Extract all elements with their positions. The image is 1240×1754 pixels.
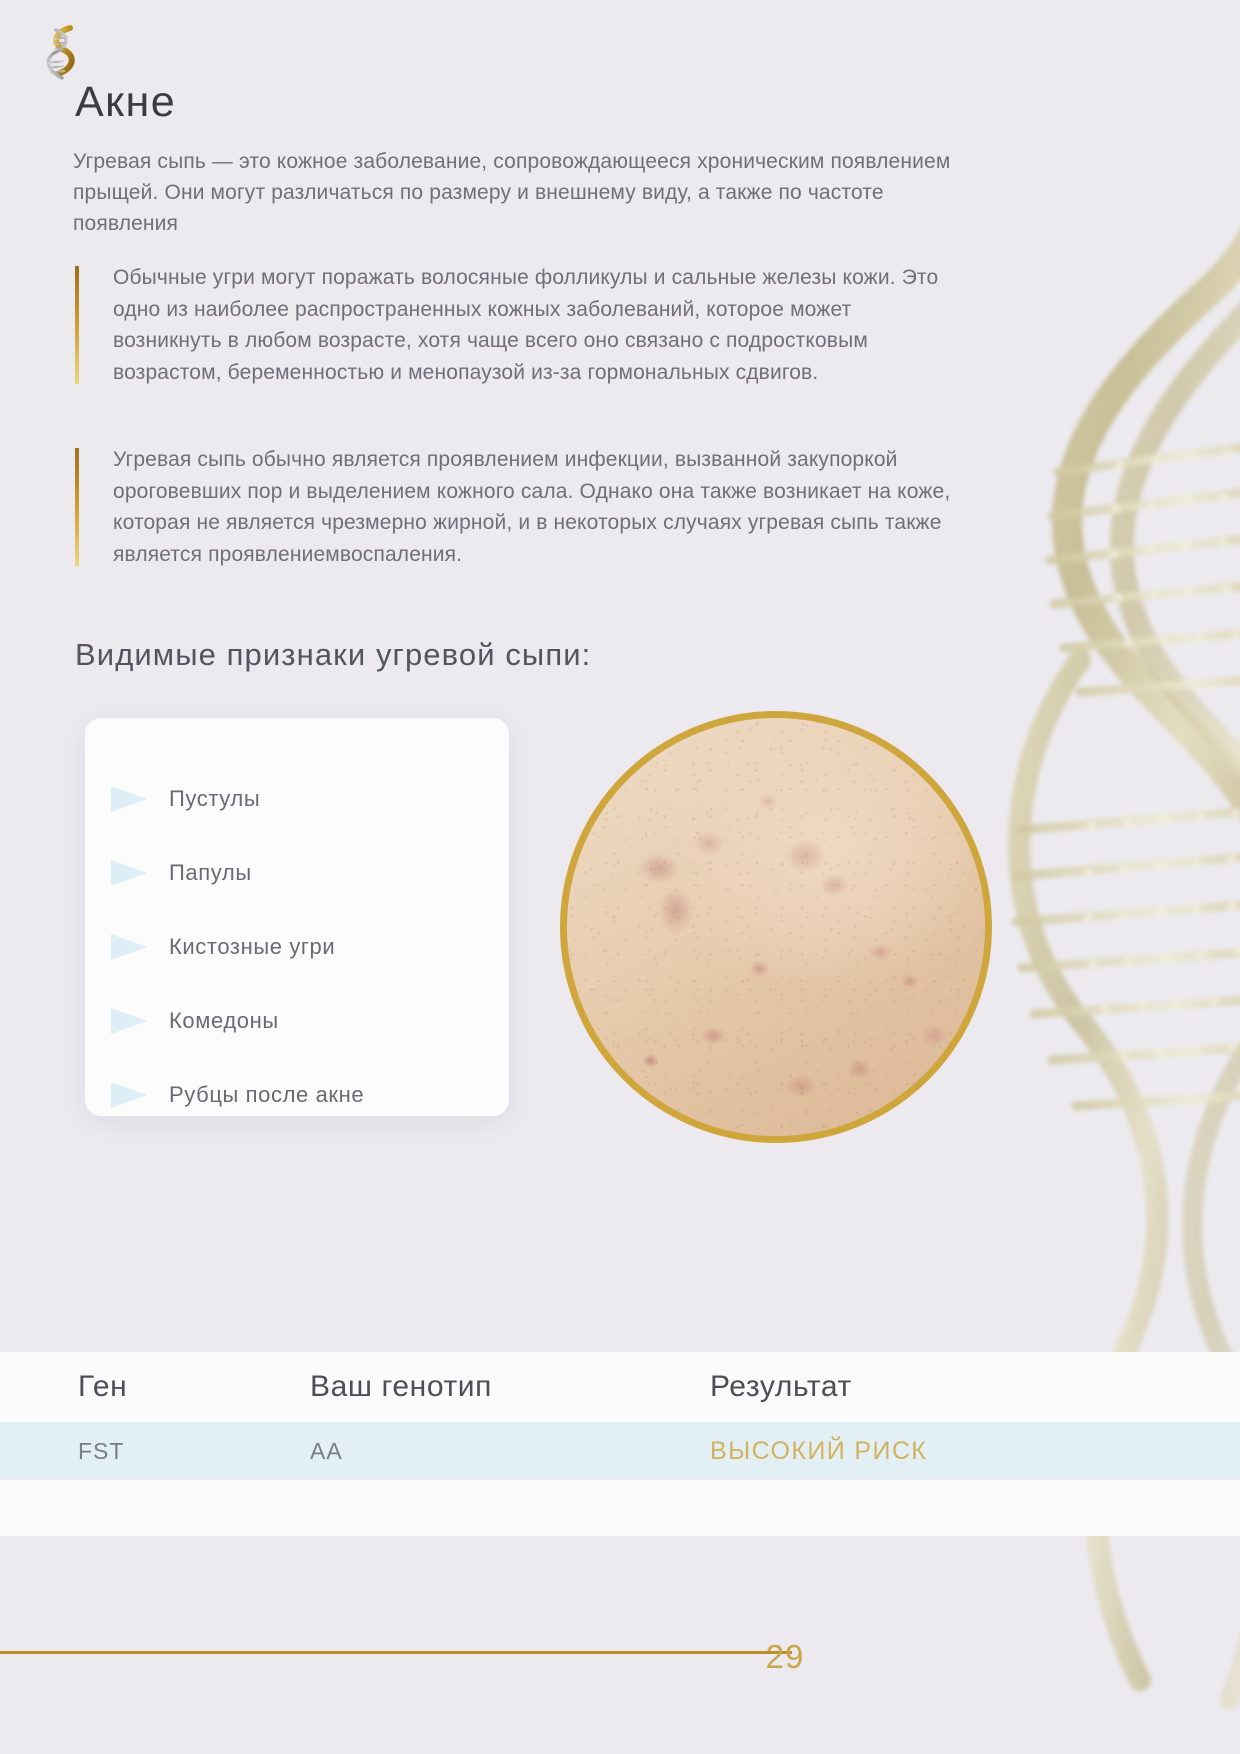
table-header-result: Результат [710, 1370, 1240, 1404]
table-header-genotype: Ваш генотип [310, 1370, 710, 1404]
footer-divider [0, 1651, 792, 1654]
list-item: Рубцы после акне [85, 1058, 509, 1132]
acne-skin-photo [560, 711, 992, 1143]
page-title: Акне [75, 78, 176, 127]
list-item: Комедоны [85, 984, 509, 1058]
triangle-right-icon [107, 1079, 151, 1111]
list-item: Папулы [85, 836, 509, 910]
symptoms-card: Пустулы Папулы Кистозные угри [85, 718, 509, 1116]
table-header-gene: Ген [0, 1370, 310, 1404]
intro-paragraph: Угревая сыпь — это кожное заболевание, с… [73, 146, 963, 239]
list-item: Кистозные угри [85, 910, 509, 984]
list-item-label: Папулы [169, 860, 252, 886]
section-heading-symptoms: Видимые признаки угревой сыпи: [75, 637, 591, 673]
table-header-row: Ген Ваш генотип Результат [0, 1352, 1240, 1422]
page-root: Акне Угревая сыпь — это кожное заболеван… [0, 0, 1240, 1754]
acne-skin-photo-texture [567, 718, 985, 1136]
highlight-block-2: Угревая сыпь обычно является проявлением… [75, 444, 965, 570]
list-item-label: Рубцы после акне [169, 1082, 364, 1108]
triangle-right-icon [107, 931, 151, 963]
status-badge: ВЫСОКИЙ РИСК [710, 1437, 1240, 1466]
list-item: Пустулы [85, 762, 509, 836]
page-footer: 29 [0, 1500, 1240, 1754]
triangle-right-icon [107, 783, 151, 815]
table-row: FST AA ВЫСОКИЙ РИСК [0, 1422, 1240, 1480]
list-item-label: Кистозные угри [169, 934, 335, 960]
triangle-right-icon [107, 857, 151, 889]
page-number: 29 [735, 1638, 835, 1676]
highlight-block-1-text: Обычные угри могут поражать волосяные фо… [113, 266, 938, 384]
highlight-block-1: Обычные угри могут поражать волосяные фо… [75, 262, 965, 388]
triangle-right-icon [107, 1005, 151, 1037]
list-item-label: Пустулы [169, 786, 260, 812]
table-cell-genotype: AA [310, 1438, 710, 1465]
list-item-label: Комедоны [169, 1008, 279, 1034]
table-cell-gene: FST [0, 1438, 310, 1465]
highlight-block-2-text: Угревая сыпь обычно является проявлением… [113, 448, 950, 566]
